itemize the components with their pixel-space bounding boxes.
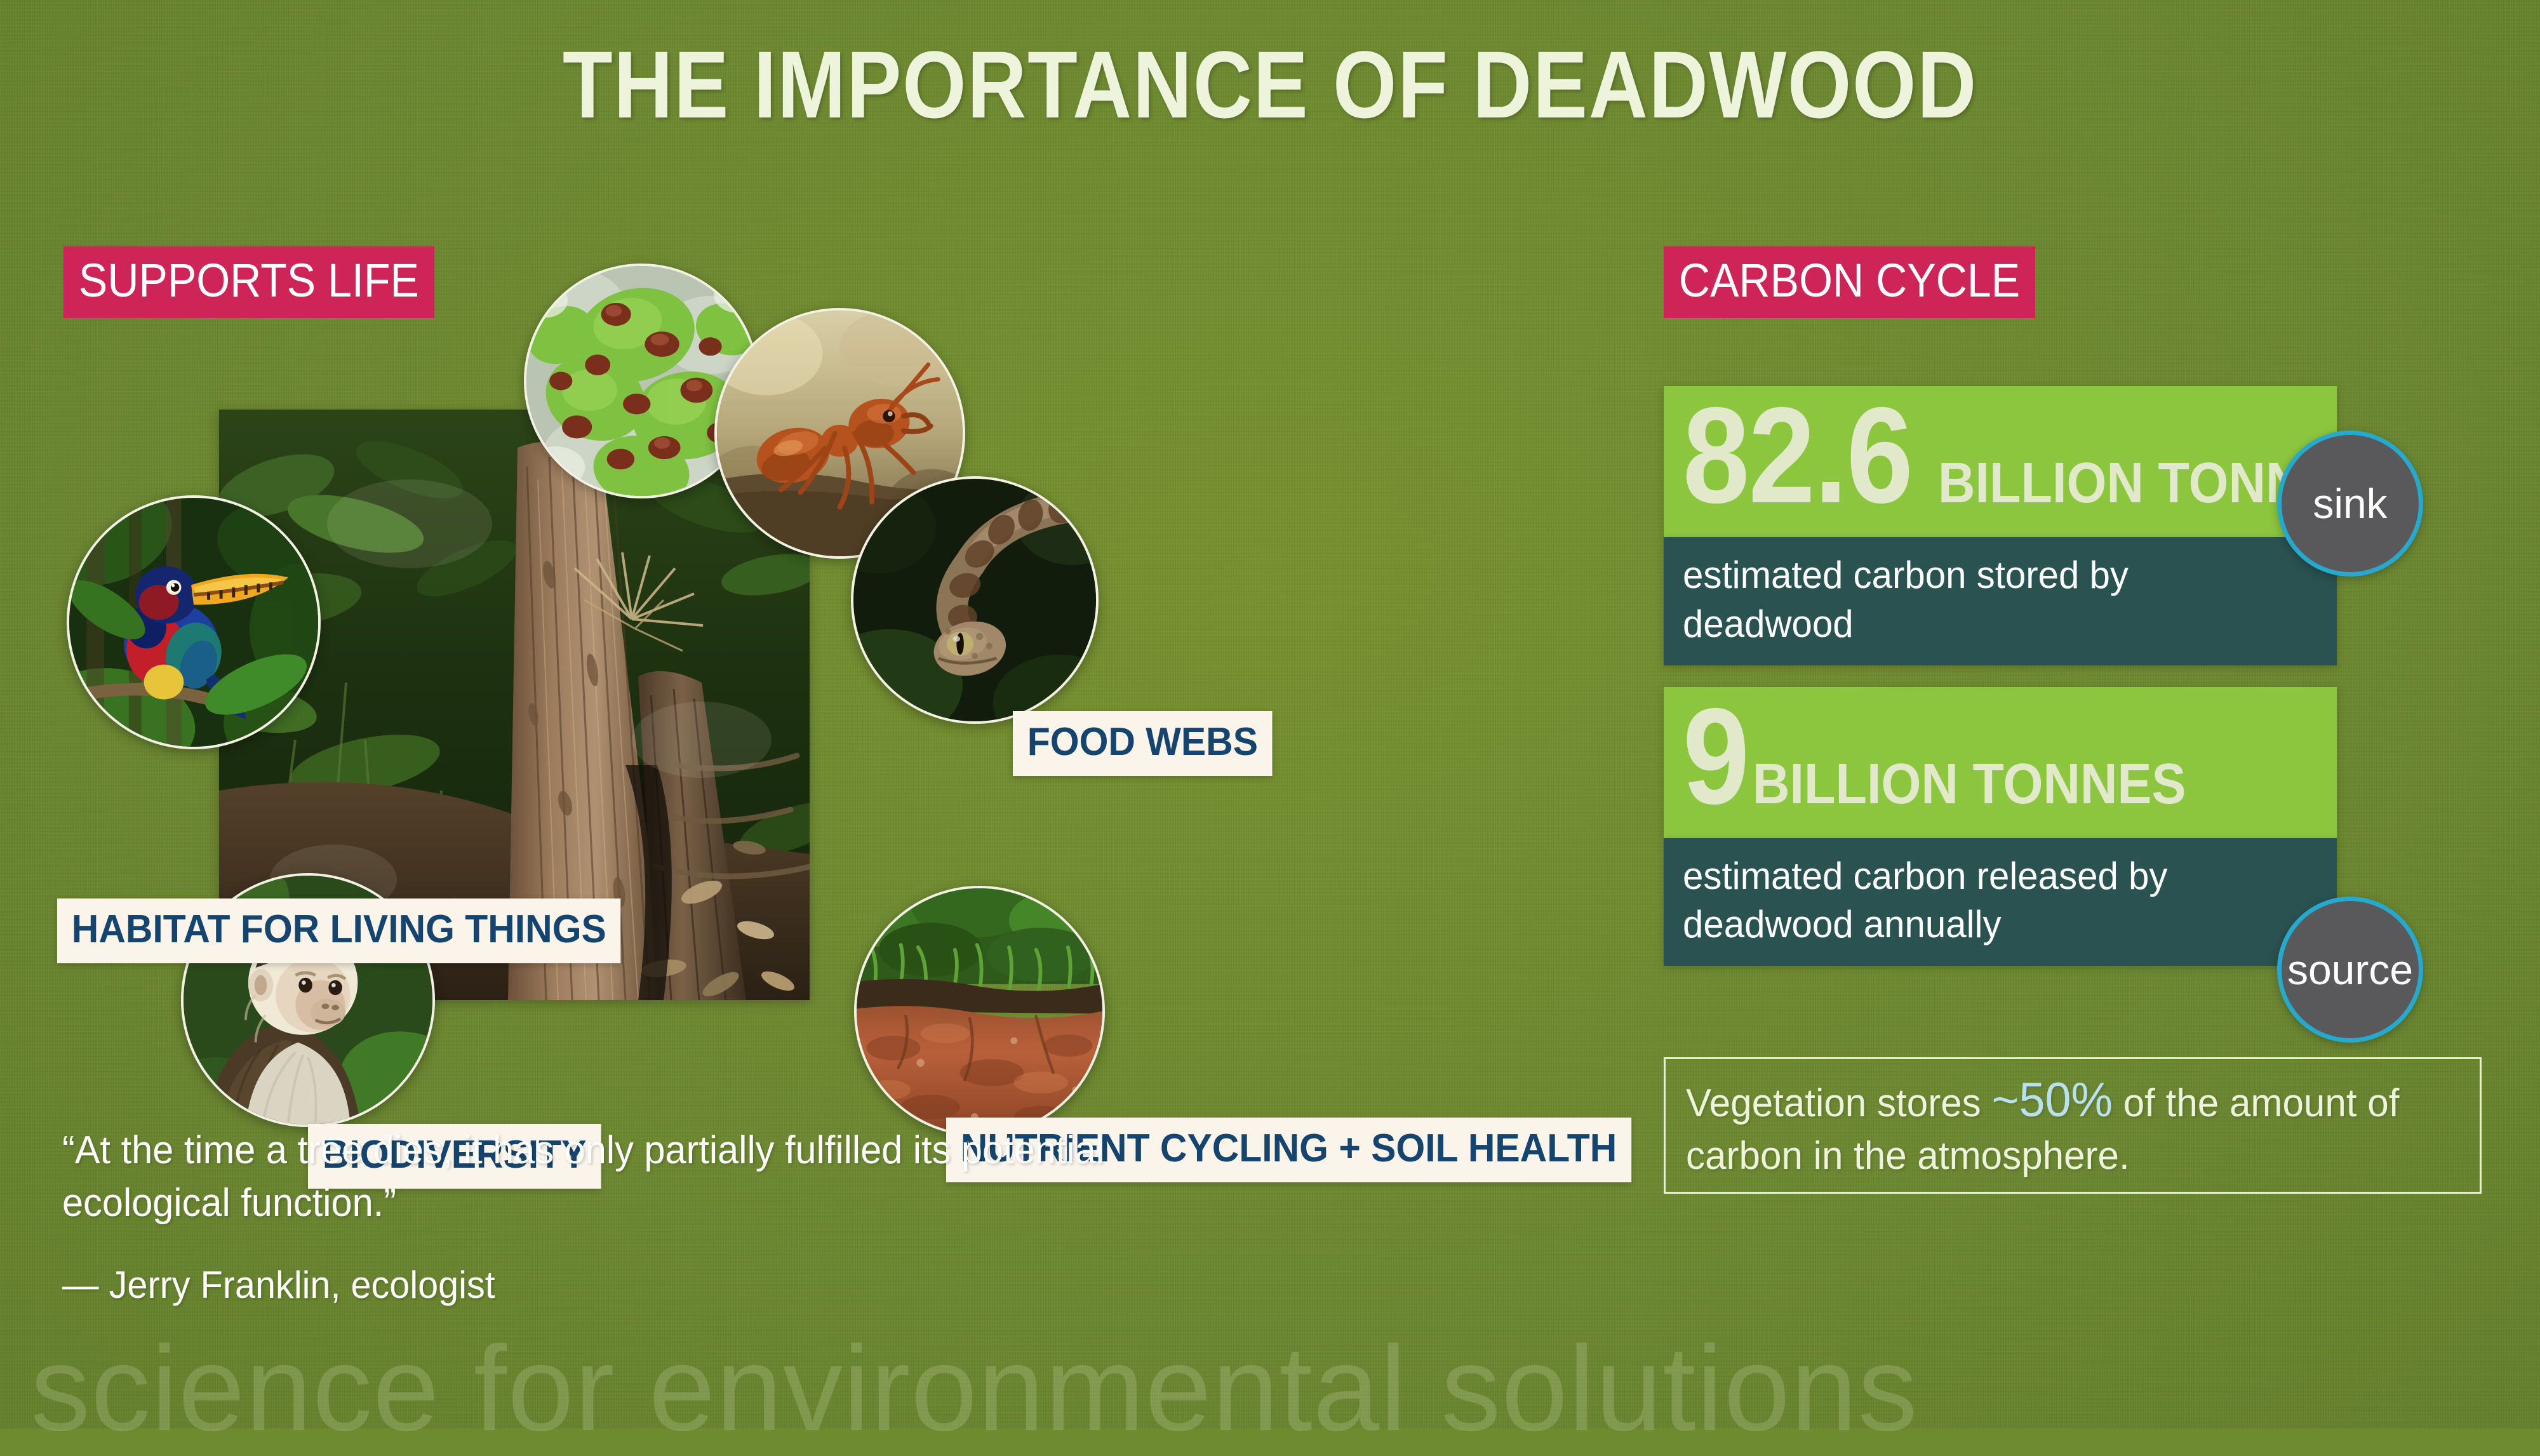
section-badge-carbon-cycle: CARBON CYCLE xyxy=(1664,246,2035,318)
stat-head-carbon-stored: 82.6 BILLION TONNES xyxy=(1664,386,2337,537)
stat-number-carbon-released: 9 xyxy=(1683,693,1748,819)
watermark-tagline: science for environmental solutions xyxy=(30,1328,2540,1449)
stat-desc-line1: estimated carbon released by xyxy=(1683,852,2299,901)
stat-description-carbon-stored: estimated carbon stored by deadwood xyxy=(1664,537,2337,665)
stat-unit-carbon-released: BILLION TONNES xyxy=(1753,756,2186,813)
stat-desc-line1: estimated carbon stored by xyxy=(1683,551,2299,600)
photo-bird xyxy=(67,495,321,749)
note-prefix: Vegetation stores xyxy=(1686,1081,1991,1125)
stat-desc-line2: deadwood xyxy=(1683,600,2299,649)
photo-soil xyxy=(854,886,1105,1137)
photo-collage: HABITAT FOR LIVING THINGS FOOD WEBS BIOD… xyxy=(0,210,1556,1099)
stat-card-carbon-stored: 82.6 BILLION TONNES estimated carbon sto… xyxy=(1664,386,2337,665)
stat-desc-line2: deadwood annually xyxy=(1683,900,2299,949)
role-badge-sink: sink xyxy=(2277,431,2423,577)
callout-habitat-for-living-things: HABITAT FOR LIVING THINGS xyxy=(57,898,621,963)
note-highlight-percent: ~50% xyxy=(1991,1073,2113,1127)
stat-head-carbon-released: 9 BILLION TONNES xyxy=(1664,687,2337,838)
callout-food-webs: FOOD WEBS xyxy=(1013,711,1273,776)
vegetation-note-text: Vegetation stores ~50% of the amount of … xyxy=(1686,1069,2436,1182)
quote-block: “At the time a tree dies, it has only pa… xyxy=(62,1124,1205,1308)
quote-attribution: — Jerry Franklin, ecologist xyxy=(62,1262,1160,1308)
stat-description-carbon-released: estimated carbon released by deadwood an… xyxy=(1664,838,2337,966)
photo-snake xyxy=(851,476,1099,724)
stat-card-carbon-released: 9 BILLION TONNES estimated carbon releas… xyxy=(1664,687,2337,966)
vegetation-note-box: Vegetation stores ~50% of the amount of … xyxy=(1664,1057,2482,1194)
stat-number-carbon-stored: 82.6 xyxy=(1683,392,1912,518)
page-title: THE IMPORTANCE OF DEADWOOD xyxy=(178,37,2362,132)
quote-text: “At the time a tree dies, it has only pa… xyxy=(62,1124,1160,1229)
role-badge-source: source xyxy=(2277,897,2423,1043)
carbon-cycle-panel: 82.6 BILLION TONNES estimated carbon sto… xyxy=(1664,386,2508,987)
